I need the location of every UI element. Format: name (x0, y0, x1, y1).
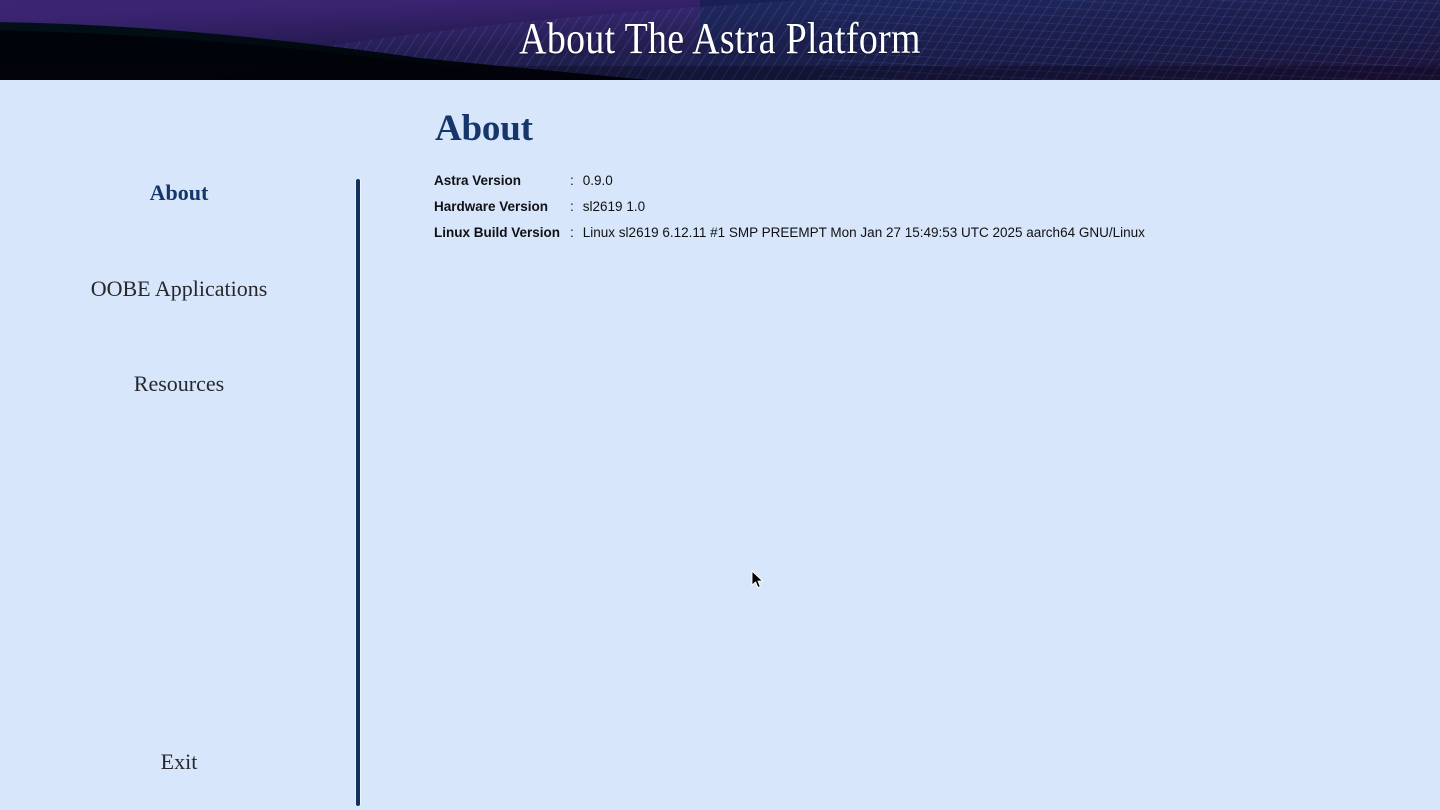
app-header-banner: About The Astra Platform (0, 0, 1440, 80)
sidebar-item-oobe-applications[interactable]: OOBE Applications (0, 276, 358, 302)
info-value-astra-version: 0.9.0 (583, 174, 1145, 200)
info-separator: : (570, 226, 583, 252)
info-separator: : (570, 174, 583, 200)
table-row: Astra Version : 0.9.0 (434, 174, 1145, 200)
table-row: Hardware Version : sl2619 1.0 (434, 200, 1145, 226)
info-label-hardware-version: Hardware Version (434, 200, 570, 226)
sidebar-item-label: OOBE Applications (91, 276, 268, 301)
page-body: About OOBE Applications Resources Exit A… (0, 80, 1440, 810)
main-content-panel: About Astra Version : 0.9.0 Hardware Ver… (360, 80, 1440, 810)
sidebar-item-resources[interactable]: Resources (0, 371, 358, 397)
sidebar-item-label: About (150, 180, 209, 205)
sidebar-item-label: Exit (161, 749, 198, 774)
page-title: About (435, 107, 533, 150)
table-row: Linux Build Version : Linux sl2619 6.12.… (434, 226, 1145, 252)
info-separator: : (570, 200, 583, 226)
system-info-table: Astra Version : 0.9.0 Hardware Version :… (434, 174, 1145, 252)
sidebar-item-exit[interactable]: Exit (0, 749, 358, 775)
info-value-hardware-version: sl2619 1.0 (583, 200, 1145, 226)
sidebar-item-label: Resources (134, 371, 224, 396)
info-value-linux-build-version: Linux sl2619 6.12.11 #1 SMP PREEMPT Mon … (583, 226, 1145, 252)
sidebar-item-about[interactable]: About (0, 180, 358, 206)
sidebar-navigation: About OOBE Applications Resources Exit (0, 80, 358, 810)
info-label-astra-version: Astra Version (434, 174, 570, 200)
info-label-linux-build-version: Linux Build Version (434, 226, 570, 252)
header-title: About The Astra Platform (101, 0, 1339, 80)
